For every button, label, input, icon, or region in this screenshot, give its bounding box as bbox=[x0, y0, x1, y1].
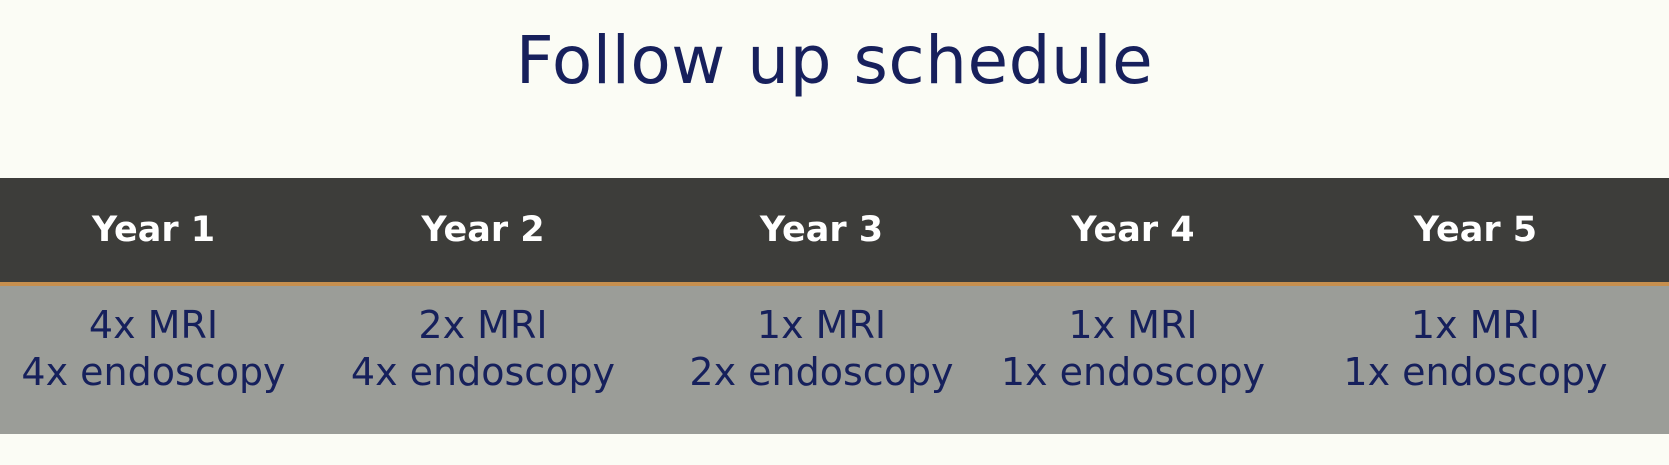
cell-year-1: 4x MRI 4x endoscopy bbox=[0, 284, 307, 434]
mri-count-year-5: 1x MRI bbox=[1286, 302, 1665, 349]
table-row: 4x MRI 4x endoscopy 2x MRI 4x endoscopy … bbox=[0, 284, 1669, 434]
endoscopy-count-year-2: 4x endoscopy bbox=[311, 349, 655, 396]
table-body: 4x MRI 4x endoscopy 2x MRI 4x endoscopy … bbox=[0, 284, 1669, 434]
column-header-year-5: Year 5 bbox=[1282, 178, 1669, 284]
table-header: Year 1 Year 2 Year 3 Year 4 Year 5 bbox=[0, 178, 1669, 284]
follow-up-schedule-table: Year 1 Year 2 Year 3 Year 4 Year 5 4x MR… bbox=[0, 178, 1669, 434]
endoscopy-count-year-1: 4x endoscopy bbox=[4, 349, 303, 396]
mri-count-year-2: 2x MRI bbox=[311, 302, 655, 349]
mri-count-year-1: 4x MRI bbox=[4, 302, 303, 349]
title-container: Follow up schedule bbox=[0, 6, 1669, 116]
column-header-year-3: Year 3 bbox=[659, 178, 984, 284]
column-header-year-2: Year 2 bbox=[307, 178, 659, 284]
cell-year-5: 1x MRI 1x endoscopy bbox=[1282, 284, 1669, 434]
cell-year-2: 2x MRI 4x endoscopy bbox=[307, 284, 659, 434]
endoscopy-count-year-4: 1x endoscopy bbox=[988, 349, 1278, 396]
mri-count-year-4: 1x MRI bbox=[988, 302, 1278, 349]
slide-canvas: Follow up schedule Year 1 Year 2 Year 3 … bbox=[0, 0, 1669, 465]
cell-content-year-2: 2x MRI 4x endoscopy bbox=[311, 286, 655, 396]
cell-year-4: 1x MRI 1x endoscopy bbox=[984, 284, 1282, 434]
cell-year-3: 1x MRI 2x endoscopy bbox=[659, 284, 984, 434]
cell-content-year-3: 1x MRI 2x endoscopy bbox=[663, 286, 980, 396]
table-header-row: Year 1 Year 2 Year 3 Year 4 Year 5 bbox=[0, 178, 1669, 284]
page-title: Follow up schedule bbox=[516, 28, 1153, 94]
cell-content-year-5: 1x MRI 1x endoscopy bbox=[1286, 286, 1665, 396]
cell-content-year-1: 4x MRI 4x endoscopy bbox=[4, 286, 303, 396]
endoscopy-count-year-3: 2x endoscopy bbox=[663, 349, 980, 396]
endoscopy-count-year-5: 1x endoscopy bbox=[1286, 349, 1665, 396]
column-header-year-4: Year 4 bbox=[984, 178, 1282, 284]
cell-content-year-4: 1x MRI 1x endoscopy bbox=[988, 286, 1278, 396]
mri-count-year-3: 1x MRI bbox=[663, 302, 980, 349]
column-header-year-1: Year 1 bbox=[0, 178, 307, 284]
